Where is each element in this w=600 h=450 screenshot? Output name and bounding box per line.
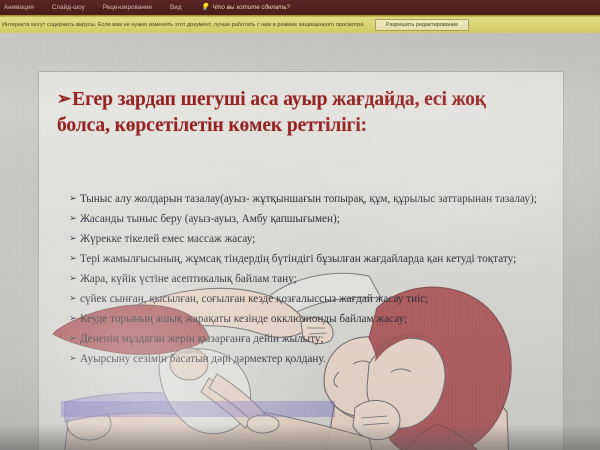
list-item[interactable]: ➢ сүйек сынған, қысылған, соғылған кезде… bbox=[69, 292, 539, 307]
bullet-text: Дененің мұздаған жерін қызарғанға дейін … bbox=[80, 332, 539, 347]
bullet-arrow-icon: ➢ bbox=[69, 312, 80, 327]
bullet-text: сүйек сынған, қысылған, соғылған кезде қ… bbox=[80, 292, 539, 307]
bullet-text: Жара, күйік үстіне асептикалық байлам та… bbox=[80, 272, 539, 287]
protected-view-message: Интернета могут содержать вирусы. Если в… bbox=[0, 22, 365, 28]
slide-workspace: ➢Егер зардап шегуші аса ауыр жағдайда, е… bbox=[0, 33, 600, 450]
slide-canvas[interactable]: ➢Егер зардап шегуші аса ауыр жағдайда, е… bbox=[38, 71, 564, 450]
lightbulb-icon: 💡 bbox=[201, 4, 210, 11]
list-item[interactable]: ➢ Ауырсыну сезімін басатын дәрі дәрмекте… bbox=[69, 352, 539, 367]
tell-me-search[interactable]: 💡 Что вы хотите сделать? bbox=[191, 4, 291, 11]
ribbon-tab-animation[interactable]: Анимация bbox=[0, 4, 43, 11]
bullet-arrow-icon: ➢ bbox=[69, 272, 80, 287]
slide-title-text: Егер зардап шегуші аса ауыр жағдайда, ес… bbox=[57, 89, 486, 136]
enable-editing-button[interactable]: Разрешить редактирование bbox=[375, 19, 469, 31]
powerpoint-screen-photo: Анимация Слайд-шоу Рецензирование Вид 💡 … bbox=[0, 0, 600, 450]
protected-view-bar: Интернета могут содержать вирусы. Если в… bbox=[0, 17, 600, 33]
bullet-arrow-icon: ➢ bbox=[69, 192, 80, 207]
list-item[interactable]: ➢ Жара, күйік үстіне асептикалық байлам … bbox=[69, 272, 539, 287]
bullet-arrow-icon: ➢ bbox=[69, 292, 80, 307]
bullet-arrow-icon: ➢ bbox=[69, 352, 80, 367]
list-item[interactable]: ➢ Жасанды тыныс беру (ауыз-ауыз, Амбу қа… bbox=[69, 212, 539, 227]
bullet-text: Жүрекке тікелей емес массаж жасау; bbox=[80, 232, 539, 247]
bullet-text: Жасанды тыныс беру (ауыз-ауыз, Амбу қапш… bbox=[80, 212, 539, 227]
ribbon-tab-slideshow[interactable]: Слайд-шоу bbox=[43, 4, 94, 11]
bullet-text: Кеуде торының ашық жарақаты кезінде оккл… bbox=[80, 312, 539, 327]
bullet-text: Тері жамылғысының, жұмсақ тіндердің бүті… bbox=[80, 252, 539, 267]
ribbon-tab-view[interactable]: Вид bbox=[161, 4, 191, 11]
list-item[interactable]: ➢ Тері жамылғысының, жұмсақ тіндердің бү… bbox=[69, 252, 539, 267]
list-item[interactable]: ➢ Тыныс алу жолдарын тазалау(ауыз- жұтқы… bbox=[69, 192, 539, 207]
bullet-arrow-icon: ➢ bbox=[69, 212, 80, 227]
slide-bullet-list[interactable]: ➢ Тыныс алу жолдарын тазалау(ауыз- жұтқы… bbox=[69, 192, 539, 372]
list-item[interactable]: ➢ Кеуде торының ашық жарақаты кезінде ок… bbox=[69, 312, 539, 327]
bullet-text: Тыныс алу жолдарын тазалау(ауыз- жұтқынш… bbox=[80, 192, 539, 207]
text-selection-highlight bbox=[61, 401, 335, 417]
ribbon-tab-review[interactable]: Рецензирование bbox=[94, 4, 161, 11]
slide-title[interactable]: ➢Егер зардап шегуші аса ауыр жағдайда, е… bbox=[57, 87, 543, 139]
title-bullet-icon: ➢ bbox=[57, 89, 71, 108]
bullet-arrow-icon: ➢ bbox=[69, 252, 80, 267]
bullet-arrow-icon: ➢ bbox=[69, 232, 80, 247]
bullet-arrow-icon: ➢ bbox=[69, 332, 80, 347]
ribbon-tab-strip: Анимация Слайд-шоу Рецензирование Вид 💡 … bbox=[0, 0, 600, 15]
list-item[interactable]: ➢ Дененің мұздаған жерін қызарғанға дейі… bbox=[69, 332, 539, 347]
tell-me-label: Что вы хотите сделать? bbox=[212, 4, 290, 11]
bullet-text: Ауырсыну сезімін басатын дәрі дәрмектер … bbox=[80, 352, 539, 367]
list-item[interactable]: ➢ Жүрекке тікелей емес массаж жасау; bbox=[69, 232, 539, 247]
